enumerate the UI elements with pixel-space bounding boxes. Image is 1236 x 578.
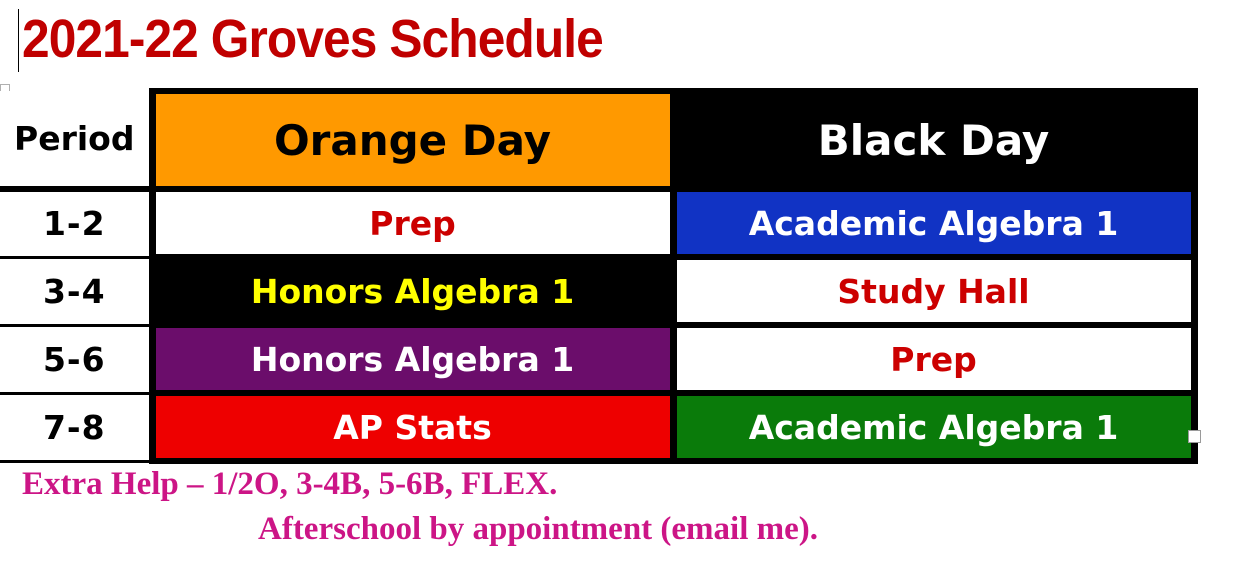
table-row: 3-4 Honors Algebra 1 Study Hall	[0, 257, 1194, 325]
cell-orange-3-4: Honors Algebra 1	[152, 257, 673, 325]
header-period: Period	[0, 91, 152, 189]
period-label-1-2: 1-2	[0, 189, 152, 257]
cell-text: Honors Algebra 1	[156, 340, 670, 379]
header-orange-day-label: Orange Day	[156, 116, 670, 165]
cell-text: Study Hall	[677, 272, 1191, 311]
header-black-day: Black Day	[673, 91, 1194, 189]
footer: Extra Help – 1/2O, 3-4B, 5-6B, FLEX. Aft…	[0, 462, 1236, 552]
header-orange-day: Orange Day	[152, 91, 673, 189]
text-caret	[18, 9, 19, 72]
table-row: 1-2 Prep Academic Algebra 1	[0, 189, 1194, 257]
selection-handle-bottom-right[interactable]	[1188, 430, 1201, 443]
cell-orange-7-8: AP Stats	[152, 393, 673, 461]
footer-line-afterschool: Afterschool by appointment (email me).	[0, 507, 1236, 552]
period-text: 1-2	[0, 204, 149, 243]
header-period-label: Period	[0, 119, 149, 158]
schedule-table: Period Orange Day Black Day 1-2 Prep Aca…	[0, 88, 1198, 464]
period-text: 3-4	[0, 272, 149, 311]
table-header-row: Period Orange Day Black Day	[0, 91, 1194, 189]
table-row: 7-8 AP Stats Academic Algebra 1	[0, 393, 1194, 461]
period-label-3-4: 3-4	[0, 257, 152, 325]
table-row: 5-6 Honors Algebra 1 Prep	[0, 325, 1194, 393]
cell-orange-5-6: Honors Algebra 1	[152, 325, 673, 393]
cell-text: Prep	[677, 340, 1191, 379]
cell-text: Academic Algebra 1	[677, 408, 1191, 447]
period-label-5-6: 5-6	[0, 325, 152, 393]
cell-black-1-2: Academic Algebra 1	[673, 189, 1194, 257]
cell-text: Honors Algebra 1	[156, 272, 670, 311]
cell-black-7-8: Academic Algebra 1	[673, 393, 1194, 461]
page-title: 2021-22 Groves Schedule	[22, 8, 603, 70]
cell-black-3-4: Study Hall	[673, 257, 1194, 325]
cell-text: Academic Algebra 1	[677, 204, 1191, 243]
cell-text: Prep	[156, 204, 670, 243]
footer-line-extra-help: Extra Help – 1/2O, 3-4B, 5-6B, FLEX.	[0, 462, 1236, 507]
period-text: 5-6	[0, 340, 149, 379]
period-text: 7-8	[0, 408, 149, 447]
header-black-day-label: Black Day	[677, 116, 1191, 165]
period-label-7-8: 7-8	[0, 393, 152, 461]
cell-text: AP Stats	[156, 408, 670, 447]
cell-orange-1-2: Prep	[152, 189, 673, 257]
cell-black-5-6: Prep	[673, 325, 1194, 393]
